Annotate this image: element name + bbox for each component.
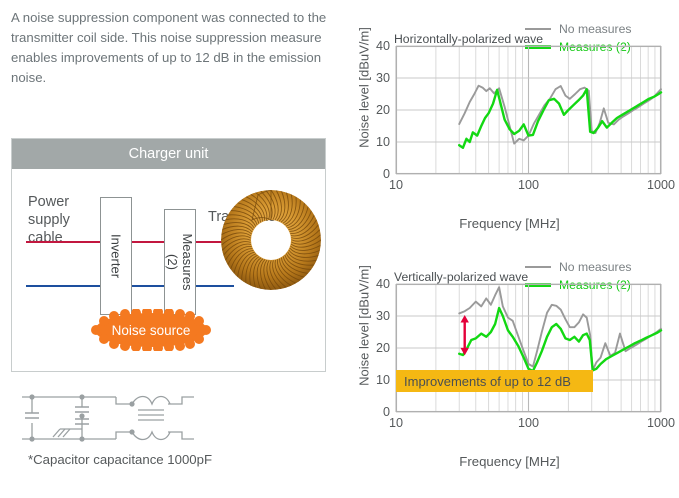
power-supply-cable-label-line2: supply [28,211,70,229]
capacitor-capacitance-note: *Capacitor capacitance 1000pF [28,452,212,467]
transmitter-coil-icon [218,187,324,293]
power-supply-cable-label-line1: Power [28,193,70,211]
inverter-label: Inverter [109,234,124,278]
plot-area-vertical: 010203040 101001000 Improvements of up t… [396,284,661,412]
power-supply-cable-label: Power supply cable [28,193,70,247]
noise-source-badge: Noise source [90,309,212,351]
y-tick-label: 10 [376,373,390,387]
filter-circuit-schematic [20,388,220,448]
chart-title-vertical: Vertically-polarized wave [394,270,528,284]
chart-title-horizontal: Horizontally-polarized wave [394,32,543,46]
legend-item-no-measures: No measures [525,20,675,37]
x-tick-label: 100 [518,178,539,192]
legend-label-no-measures: No measures [559,260,631,274]
y-tick-label: 30 [376,309,390,323]
charger-unit-body: Power supply cable Transmitter coil Inve… [12,169,325,373]
x-axis-label-horizontal: Frequency [MHz] [340,216,679,231]
y-axis-label-horizontal: Noise level [dBuV/m] [357,18,372,158]
legend-label-no-measures: No measures [559,22,631,36]
charger-unit-title: Charger unit [12,139,325,169]
y-tick-label: 20 [376,341,390,355]
plot-area-horizontal: 010203040 101001000 [396,46,661,174]
x-tick-label: 1000 [647,178,675,192]
measures-block: Measures (2) [164,209,196,315]
measures-label-line1: Measures [180,233,195,290]
inverter-block: Inverter [100,197,132,315]
measures-label: Measures (2) [165,233,195,290]
y-tick-label: 10 [376,135,390,149]
chart-vertically-polarized: Vertically-polarized wave No measures Me… [340,258,679,498]
y-tick-label: 40 [376,39,390,53]
x-tick-label: 100 [518,416,539,430]
legend-swatch-no-measures [525,28,551,30]
improvement-arrow [461,315,469,355]
measures-label-line2: (2) [165,254,180,270]
x-axis-label-vertical: Frequency [MHz] [340,454,679,469]
noise-source-label: Noise source [90,309,212,351]
charger-unit-diagram: Charger unit Power supply cable Transmit… [11,138,326,372]
legend-swatch-no-measures [525,266,551,268]
x-tick-label: 10 [389,416,403,430]
y-axis-label-vertical: Noise level [dBuV/m] [357,256,372,396]
intro-paragraph: A noise suppression component was connec… [11,8,329,88]
x-tick-label: 1000 [647,416,675,430]
right-column: Horizontally-polarized wave No measures … [340,0,679,487]
chart-horizontally-polarized: Horizontally-polarized wave No measures … [340,20,679,260]
y-tick-label: 20 [376,103,390,117]
y-tick-label: 30 [376,71,390,85]
y-tick-label: 40 [376,277,390,291]
legend-item-no-measures: No measures [525,258,675,275]
left-column: A noise suppression component was connec… [0,0,340,487]
improvement-banner: Improvements of up to 12 dB [396,370,593,392]
x-tick-label: 10 [389,178,403,192]
power-supply-cable-label-line3: cable [28,229,70,247]
infographic-page: A noise suppression component was connec… [0,0,679,487]
